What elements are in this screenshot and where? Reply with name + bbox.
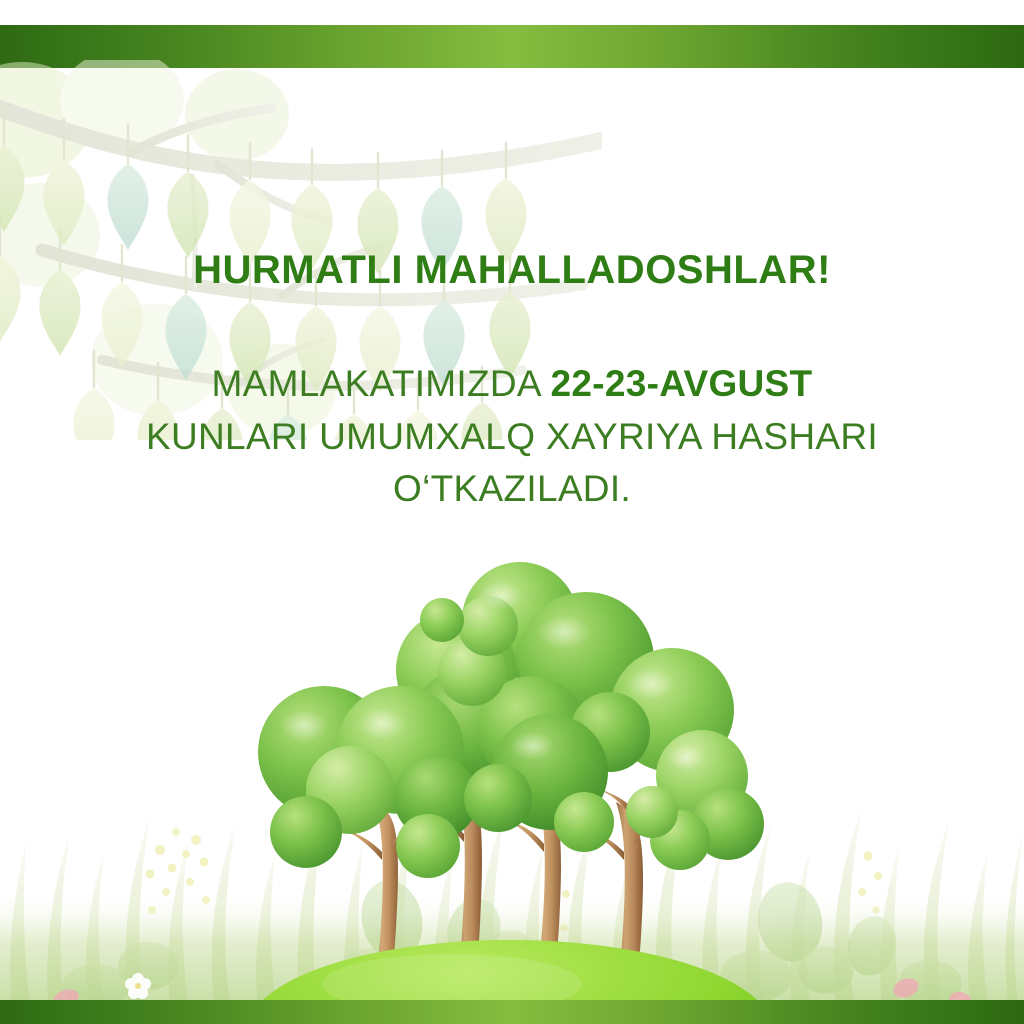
message-block: HURMATLI MAHALLADOSHLAR! MAMLAKATIMIZDA … [0, 248, 1024, 516]
body-line-2: KUNLARI UMUMXALQ XAYRIYA HASHARI [0, 411, 1024, 464]
event-dates: 22-23-AVGUST [550, 363, 812, 404]
grass-decor-icon [0, 770, 1024, 1005]
body-line-1: MAMLAKATIMIZDA 22-23-AVGUST [0, 358, 1024, 411]
body-line-3: O‘TKAZILADI. [0, 463, 1024, 516]
bottom-green-bar [0, 1000, 1024, 1024]
page-title: HURMATLI MAHALLADOSHLAR! [0, 248, 1024, 292]
poster-canvas: HURMATLI MAHALLADOSHLAR! MAMLAKATIMIZDA … [0, 0, 1024, 1024]
top-green-bar [0, 25, 1024, 68]
tree-illustration [232, 560, 772, 1010]
body-line-1-prefix: MAMLAKATIMIZDA [212, 363, 551, 404]
